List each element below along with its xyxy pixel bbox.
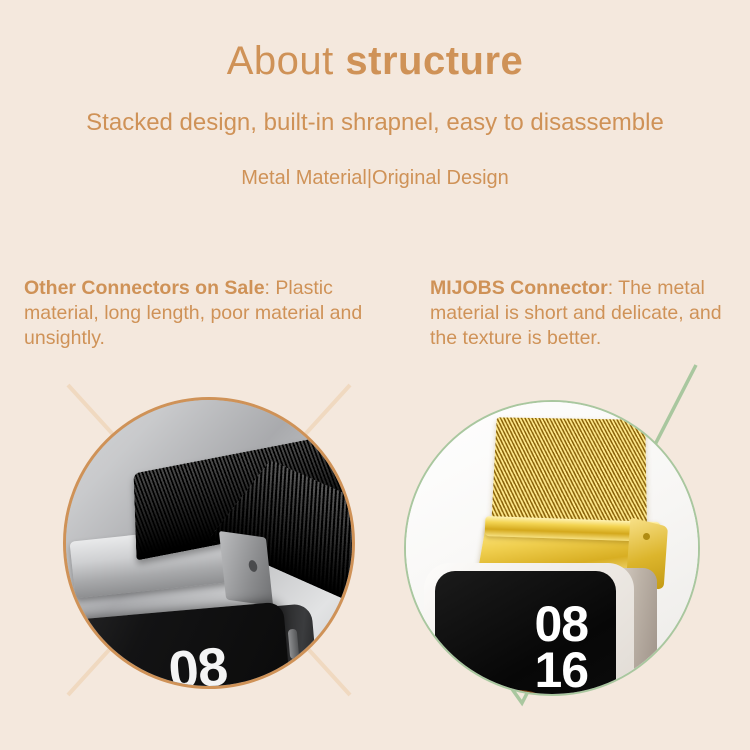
gold-watch-hours: 08	[534, 601, 657, 647]
promo-page: About structure Stacked design, built-in…	[0, 0, 750, 750]
caption-mijobs-connector: MIJOBS Connector: The metal material is …	[430, 276, 735, 351]
page-title-light: About	[227, 39, 346, 83]
caption-other-connectors: Other Connectors on Sale: Plastic materi…	[24, 276, 374, 351]
header: About structure Stacked design, built-in…	[0, 0, 750, 191]
silver-clasp-edge	[219, 531, 273, 606]
page-title-bold: structure	[345, 39, 523, 83]
subtitle-primary: Stacked design, built-in shrapnel, easy …	[0, 108, 750, 138]
caption-left-lead: Other Connectors on Sale	[24, 277, 265, 299]
photo-silver-connector: 08	[63, 397, 355, 689]
gold-watch-minutes: 16	[534, 647, 657, 693]
caption-right-lead: MIJOBS Connector	[430, 277, 608, 299]
photo-gold-connector: 08 16	[404, 400, 700, 696]
subtitle-secondary: Metal Material|Original Design	[0, 165, 750, 191]
caption-left-separator: :	[265, 277, 270, 299]
page-title: About structure	[0, 38, 750, 84]
gold-mesh-band	[491, 417, 647, 530]
gold-screw	[643, 533, 650, 540]
gold-watch-time: 08 16	[534, 601, 657, 693]
